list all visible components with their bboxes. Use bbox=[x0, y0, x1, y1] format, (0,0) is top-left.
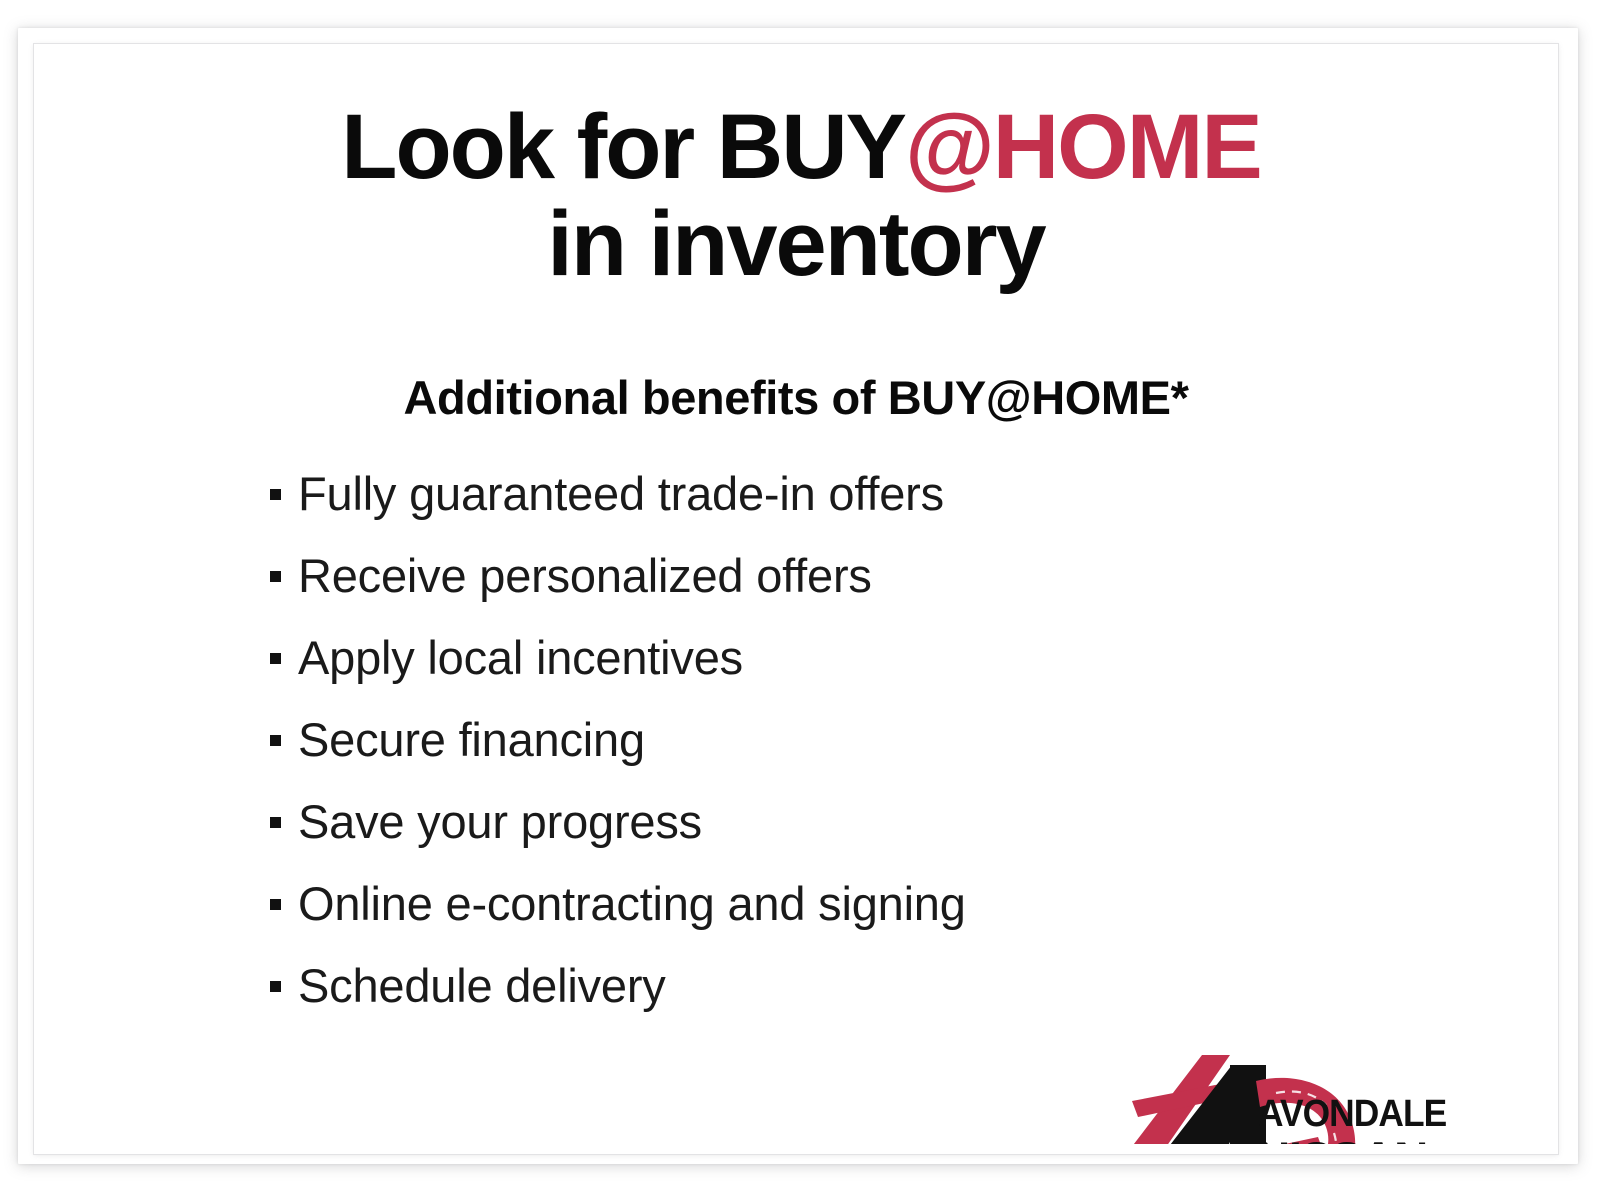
list-item: Schedule delivery bbox=[270, 944, 1450, 1026]
subheading: Additional benefits of BUY@HOME* bbox=[42, 370, 1550, 425]
list-item-label: Schedule delivery bbox=[298, 962, 666, 1009]
list-item: Fully guaranteed trade-in offers bbox=[270, 452, 1450, 534]
logo-wordmark-nissan: NISSAN bbox=[1256, 1135, 1427, 1144]
square-bullet-icon bbox=[270, 653, 281, 664]
title-accent-text: @HOME bbox=[905, 96, 1261, 198]
square-bullet-icon bbox=[270, 899, 281, 910]
square-bullet-icon bbox=[270, 489, 281, 500]
logo-wordmark-avondale: AVONDALE bbox=[1258, 1095, 1446, 1133]
list-item-label: Apply local incentives bbox=[298, 634, 743, 681]
square-bullet-icon bbox=[270, 735, 281, 746]
title-line-2: in inventory bbox=[42, 197, 1550, 292]
list-item: Save your progress bbox=[270, 780, 1450, 862]
list-item-label: Receive personalized offers bbox=[298, 552, 872, 599]
dealer-logo: AVONDALE NISSAN bbox=[1090, 1037, 1490, 1144]
square-bullet-icon bbox=[270, 817, 281, 828]
square-bullet-icon bbox=[270, 571, 281, 582]
list-item: Apply local incentives bbox=[270, 616, 1450, 698]
list-item: Online e-contracting and signing bbox=[270, 862, 1450, 944]
square-bullet-icon bbox=[270, 981, 281, 992]
page-title: Look for BUY@HOME in inventory bbox=[42, 100, 1550, 292]
benefits-list: Fully guaranteed trade-in offers Receive… bbox=[270, 452, 1450, 1026]
list-item-label: Save your progress bbox=[298, 798, 702, 845]
list-item: Receive personalized offers bbox=[270, 534, 1450, 616]
slide-canvas: Look for BUY@HOME in inventory Additiona… bbox=[0, 0, 1600, 1200]
list-item-label: Online e-contracting and signing bbox=[298, 880, 966, 927]
list-item-label: Fully guaranteed trade-in offers bbox=[298, 470, 944, 517]
slide-content-area: Look for BUY@HOME in inventory Additiona… bbox=[42, 52, 1550, 1144]
title-plain-text: Look for BUY bbox=[341, 96, 905, 198]
title-line-1: Look for BUY@HOME bbox=[42, 100, 1550, 195]
list-item: Secure financing bbox=[270, 698, 1450, 780]
list-item-label: Secure financing bbox=[298, 716, 645, 763]
